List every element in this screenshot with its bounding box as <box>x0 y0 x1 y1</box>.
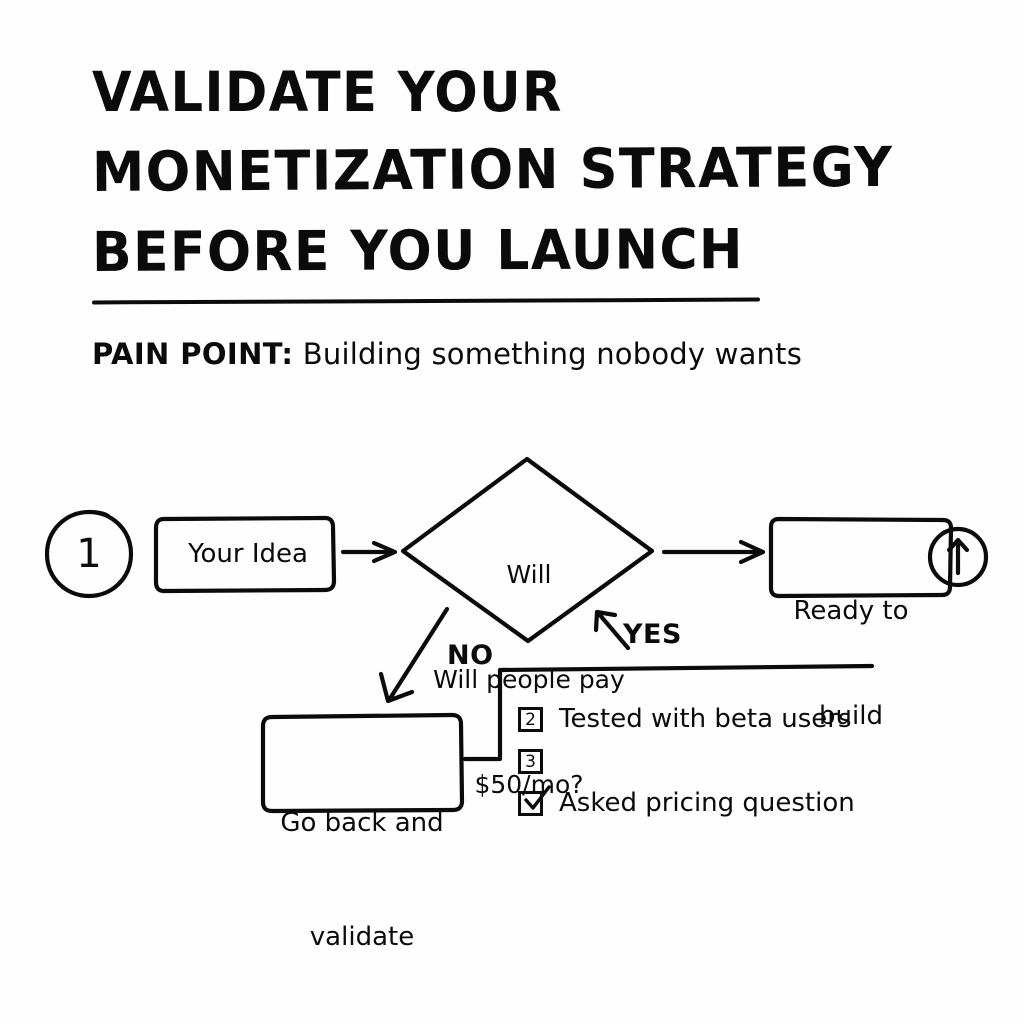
edge-goback-to-checklist <box>465 671 500 759</box>
checkmark-icon <box>522 784 552 814</box>
checkbox-unchecked-icon[interactable]: 3 <box>518 749 543 774</box>
checkbox-unchecked-icon[interactable]: 2 <box>518 707 543 732</box>
step-circle-icon <box>47 512 131 596</box>
checklist-top-rule <box>500 666 872 670</box>
validation-checklist: 2 Tested with beta users 3 Asked pricing… <box>518 698 918 824</box>
checklist-item-label: Asked pricing question <box>559 788 855 818</box>
node-go-back-box <box>263 715 462 811</box>
checklist-item[interactable]: 3 <box>518 740 918 782</box>
flowchart-graphics <box>0 0 1024 1024</box>
diagram-canvas: VALIDATE YOUR MONETIZATION STRATEGY BEFO… <box>0 0 1024 1024</box>
checklist-item[interactable]: 2 Tested with beta users <box>518 698 918 740</box>
edge-label-yes: YES <box>623 619 682 650</box>
checklist-item[interactable]: Asked pricing question <box>518 782 918 824</box>
node-ready-to-build-box <box>771 519 951 596</box>
node-your-idea-box <box>156 518 334 591</box>
edge-label-no: NO <box>447 640 494 671</box>
checkbox-marker: 3 <box>525 752 536 772</box>
checkbox-marker: 2 <box>525 710 536 730</box>
checklist-item-label: Tested with beta users <box>559 704 852 734</box>
edge-decision-no <box>391 609 447 697</box>
checkbox-checked-icon[interactable] <box>518 791 543 816</box>
